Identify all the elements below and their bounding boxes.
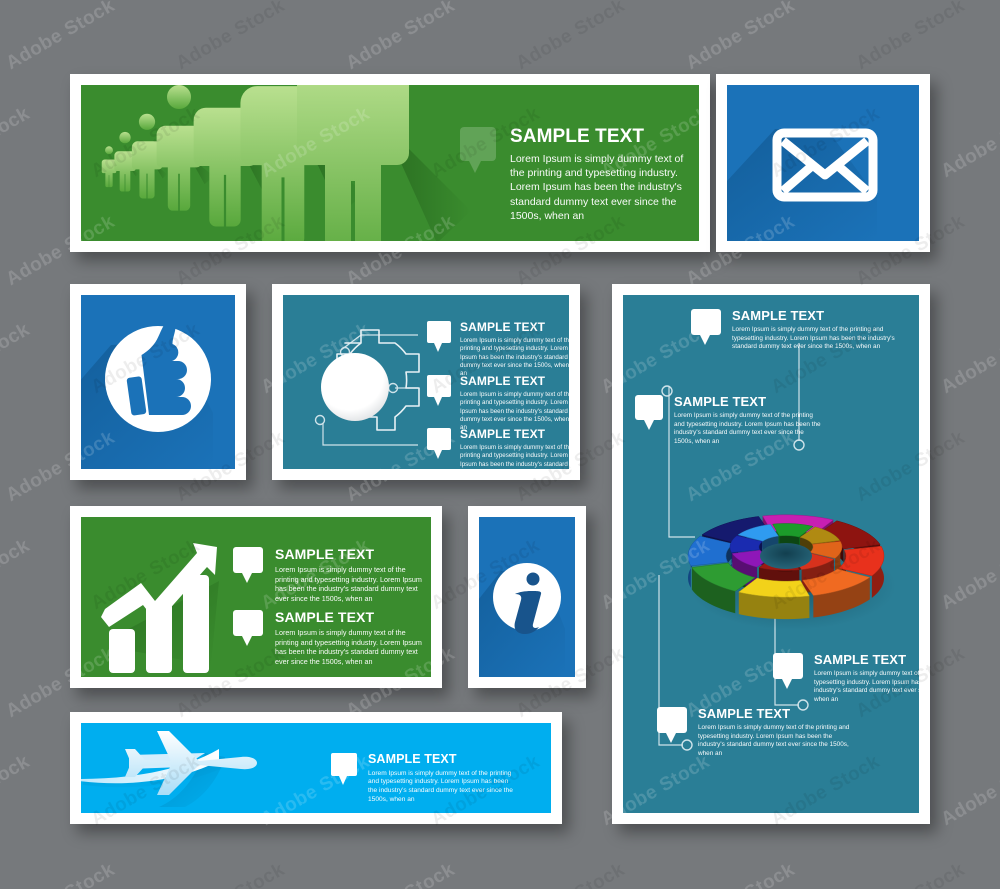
mail-card-inner — [727, 85, 919, 241]
bar-chart-arrow-icon — [93, 531, 233, 677]
donut-chart-3d-icon — [681, 481, 891, 631]
people-banner-inner: SAMPLE TEXT Lorem Ipsum is simply dummy … — [81, 85, 699, 241]
callout-body: Lorem Ipsum is simply dummy text of the … — [732, 326, 904, 352]
callout-title: SAMPLE TEXT — [460, 375, 569, 387]
gear-panel[interactable]: SAMPLE TEXT Lorem Ipsum is simply dummy … — [272, 284, 580, 480]
callout-title: SAMPLE TEXT — [275, 547, 431, 561]
callout[interactable]: SAMPLE TEXT Lorem Ipsum is simply dummy … — [331, 753, 541, 805]
callout-body: Lorem Ipsum is simply dummy text of the … — [368, 770, 518, 806]
callout-title: SAMPLE TEXT — [368, 753, 518, 766]
callout-body: Lorem Ipsum is simply dummy text of the … — [460, 444, 569, 469]
growth-chart-banner-inner: SAMPLE TEXT Lorem Ipsum is simply dummy … — [81, 517, 431, 677]
speech-bubble-icon — [635, 395, 663, 420]
watermark-text: Adobe Stock — [683, 0, 799, 75]
watermark-text: Adobe Stock — [853, 0, 969, 75]
watermark-text: Adobe Stock — [513, 859, 629, 889]
callout-text: SAMPLE TEXT Lorem Ipsum is simply dummy … — [732, 309, 904, 352]
watermark-text: Adobe Stock — [3, 0, 119, 75]
donut-chart-panel-inner: SAMPLE TEXT Lorem Ipsum is simply dummy … — [623, 295, 919, 813]
airplane-icon — [81, 723, 323, 813]
callout-title: SAMPLE TEXT — [510, 127, 699, 146]
speech-bubble-icon — [773, 653, 803, 679]
speech-bubble-icon — [233, 547, 263, 573]
mail-card-panel[interactable] — [716, 74, 930, 252]
watermark-text: Adobe Stock — [938, 535, 1000, 615]
speech-bubble-icon — [427, 428, 451, 450]
watermark-text: Adobe Stock — [0, 751, 34, 831]
callout[interactable]: SAMPLE TEXT Lorem Ipsum is simply dummy … — [233, 547, 431, 604]
callout-body: Lorem Ipsum is simply dummy text of the … — [275, 565, 431, 604]
callout-text: SAMPLE TEXT Lorem Ipsum is simply dummy … — [368, 753, 518, 805]
callout-title: SAMPLE TEXT — [814, 653, 919, 666]
callout-body: Lorem Ipsum is simply dummy text of the … — [510, 152, 699, 223]
callout[interactable]: SAMPLE TEXT Lorem Ipsum is simply dummy … — [427, 375, 569, 433]
speech-bubble-icon — [460, 127, 496, 161]
callout[interactable]: SAMPLE TEXT Lorem Ipsum is simply dummy … — [460, 127, 699, 223]
speech-bubble-icon — [657, 707, 687, 733]
callout-body: Lorem Ipsum is simply dummy text of the … — [814, 670, 919, 705]
callout-text: SAMPLE TEXT Lorem Ipsum is simply dummy … — [275, 610, 431, 667]
speech-bubble-icon — [427, 375, 451, 397]
callout-title: SAMPLE TEXT — [698, 707, 850, 720]
callout-text: SAMPLE TEXT Lorem Ipsum is simply dummy … — [510, 127, 699, 223]
watermark-text: Adobe Stock — [938, 751, 1000, 831]
callout-text: SAMPLE TEXT Lorem Ipsum is simply dummy … — [460, 428, 569, 469]
watermark-text: Adobe Stock — [938, 103, 1000, 183]
watermark-text: Adobe Stock — [683, 859, 799, 889]
callout-body: Lorem Ipsum is simply dummy text of the … — [698, 724, 850, 759]
callout[interactable]: SAMPLE TEXT Lorem Ipsum is simply dummy … — [773, 653, 919, 705]
callout-body: Lorem Ipsum is simply dummy text of the … — [275, 628, 431, 667]
callout-text: SAMPLE TEXT Lorem Ipsum is simply dummy … — [460, 375, 569, 433]
callout-title: SAMPLE TEXT — [460, 321, 569, 333]
info-card-panel[interactable] — [468, 506, 586, 688]
watermark-text: Adobe Stock — [513, 0, 629, 75]
donut-chart-panel[interactable]: SAMPLE TEXT Lorem Ipsum is simply dummy … — [612, 284, 930, 824]
watermark-text: Adobe Stock — [343, 859, 459, 889]
watermark-text: Adobe Stock — [173, 0, 289, 75]
callout[interactable]: SAMPLE TEXT Lorem Ipsum is simply dummy … — [233, 610, 431, 667]
callout[interactable]: SAMPLE TEXT Lorem Ipsum is simply dummy … — [635, 395, 825, 447]
callout-body: Lorem Ipsum is simply dummy text of the … — [674, 412, 824, 447]
thumbs-up-card-panel[interactable] — [70, 284, 246, 480]
speech-bubble-icon — [427, 321, 451, 343]
thumbs-up-icon — [81, 295, 235, 469]
callout[interactable]: SAMPLE TEXT Lorem Ipsum is simply dummy … — [691, 309, 907, 352]
speech-bubble-icon — [233, 610, 263, 636]
callout-title: SAMPLE TEXT — [460, 428, 569, 440]
watermark-text: Adobe Stock — [853, 859, 969, 889]
callout-title: SAMPLE TEXT — [275, 610, 431, 624]
callout-text: SAMPLE TEXT Lorem Ipsum is simply dummy … — [698, 707, 850, 759]
people-banner-panel[interactable]: SAMPLE TEXT Lorem Ipsum is simply dummy … — [70, 74, 710, 252]
donut-chart-svg — [681, 481, 891, 631]
speech-bubble-icon — [331, 753, 357, 776]
watermark-text: Adobe Stock — [173, 859, 289, 889]
callout-title: SAMPLE TEXT — [732, 309, 904, 322]
info-icon — [479, 517, 575, 677]
watermark-text: Adobe Stock — [938, 319, 1000, 399]
envelope-icon — [727, 85, 919, 241]
watermark-text: Adobe Stock — [343, 0, 459, 75]
watermark-text: Adobe Stock — [3, 859, 119, 889]
watermark-text: Adobe Stock — [0, 103, 34, 183]
thumbs-up-card-inner — [81, 295, 235, 469]
gear-icon — [321, 330, 419, 430]
callout-text: SAMPLE TEXT Lorem Ipsum is simply dummy … — [460, 321, 569, 379]
airplane-banner-panel[interactable]: SAMPLE TEXT Lorem Ipsum is simply dummy … — [70, 712, 562, 824]
callout[interactable]: SAMPLE TEXT Lorem Ipsum is simply dummy … — [657, 707, 857, 759]
watermark-text: Adobe Stock — [0, 535, 34, 615]
callout-text: SAMPLE TEXT Lorem Ipsum is simply dummy … — [275, 547, 431, 604]
people-group-icon — [91, 93, 421, 241]
info-card-inner — [479, 517, 575, 677]
watermark-text: Adobe Stock — [0, 319, 34, 399]
callout[interactable]: SAMPLE TEXT Lorem Ipsum is simply dummy … — [427, 321, 569, 379]
gear-panel-inner: SAMPLE TEXT Lorem Ipsum is simply dummy … — [283, 295, 569, 469]
callout-text: SAMPLE TEXT Lorem Ipsum is simply dummy … — [674, 395, 824, 447]
callout-text: SAMPLE TEXT Lorem Ipsum is simply dummy … — [814, 653, 919, 705]
callout[interactable]: SAMPLE TEXT Lorem Ipsum is simply dummy … — [427, 428, 569, 469]
connector-node — [316, 416, 325, 425]
callout-title: SAMPLE TEXT — [674, 395, 824, 408]
speech-bubble-icon — [691, 309, 721, 335]
callout-body: Lorem Ipsum is simply dummy text of the … — [460, 337, 569, 379]
airplane-banner-inner: SAMPLE TEXT Lorem Ipsum is simply dummy … — [81, 723, 551, 813]
growth-chart-banner-panel[interactable]: SAMPLE TEXT Lorem Ipsum is simply dummy … — [70, 506, 442, 688]
